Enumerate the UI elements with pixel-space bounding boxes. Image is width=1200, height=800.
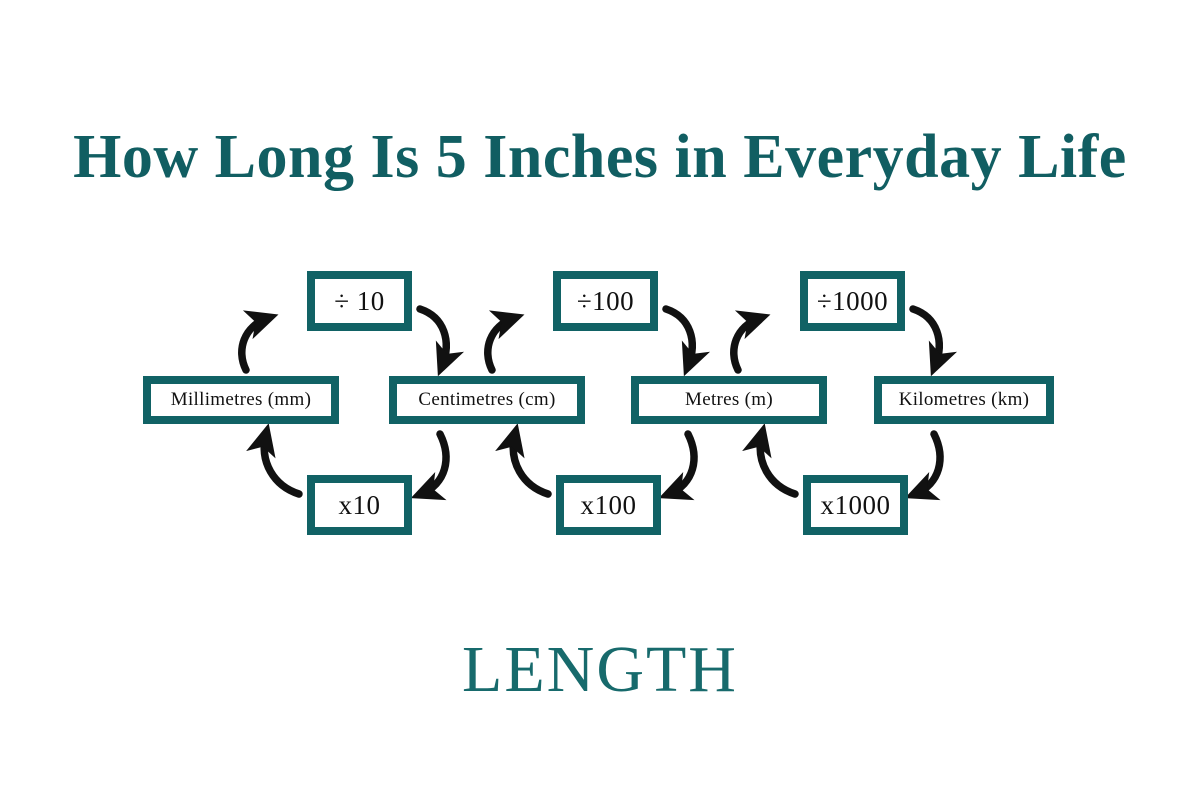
operator-box-divide-10[interactable]: ÷ 10 — [307, 271, 412, 331]
unit-label: Kilometres (km) — [881, 383, 1047, 417]
operator-label: x1000 — [810, 482, 901, 528]
arrow-div1000-to-km — [913, 309, 939, 366]
poster-canvas: How Long Is 5 Inches in Everyday Life — [0, 0, 1200, 800]
operator-label: x10 — [314, 482, 405, 528]
arrow-div100-to-m — [666, 309, 692, 366]
operator-label: x100 — [563, 482, 654, 528]
arrow-km-to-mul1000 — [915, 434, 940, 494]
arrow-mul100-to-cm — [513, 434, 548, 494]
operator-box-divide-100[interactable]: ÷100 — [553, 271, 658, 331]
arrow-m-to-div1000 — [734, 318, 760, 370]
unit-label: Metres (m) — [638, 383, 820, 417]
arrow-mm-to-div10 — [242, 318, 268, 370]
arrow-m-to-mul100 — [669, 434, 694, 494]
operator-label: ÷100 — [560, 278, 651, 324]
arrow-cm-to-div100 — [488, 318, 514, 370]
unit-label: Centimetres (cm) — [396, 383, 578, 417]
diagram-category-label: LENGTH — [0, 630, 1200, 710]
unit-box-centimetres[interactable]: Centimetres (cm) — [389, 376, 585, 424]
unit-box-kilometres[interactable]: Kilometres (km) — [874, 376, 1054, 424]
unit-box-millimetres[interactable]: Millimetres (mm) — [143, 376, 339, 424]
operator-label: ÷ 10 — [314, 278, 405, 324]
operator-box-multiply-10[interactable]: x10 — [307, 475, 412, 535]
operator-box-multiply-1000[interactable]: x1000 — [803, 475, 908, 535]
unit-box-metres[interactable]: Metres (m) — [631, 376, 827, 424]
unit-label: Millimetres (mm) — [150, 383, 332, 417]
arrow-mul1000-to-m — [760, 434, 795, 494]
operator-label: ÷1000 — [807, 278, 898, 324]
arrow-div10-to-cm — [420, 309, 446, 366]
operator-box-multiply-100[interactable]: x100 — [556, 475, 661, 535]
operator-box-divide-1000[interactable]: ÷1000 — [800, 271, 905, 331]
arrow-mul10-to-mm — [264, 434, 299, 494]
arrow-cm-to-mul10 — [421, 434, 446, 494]
